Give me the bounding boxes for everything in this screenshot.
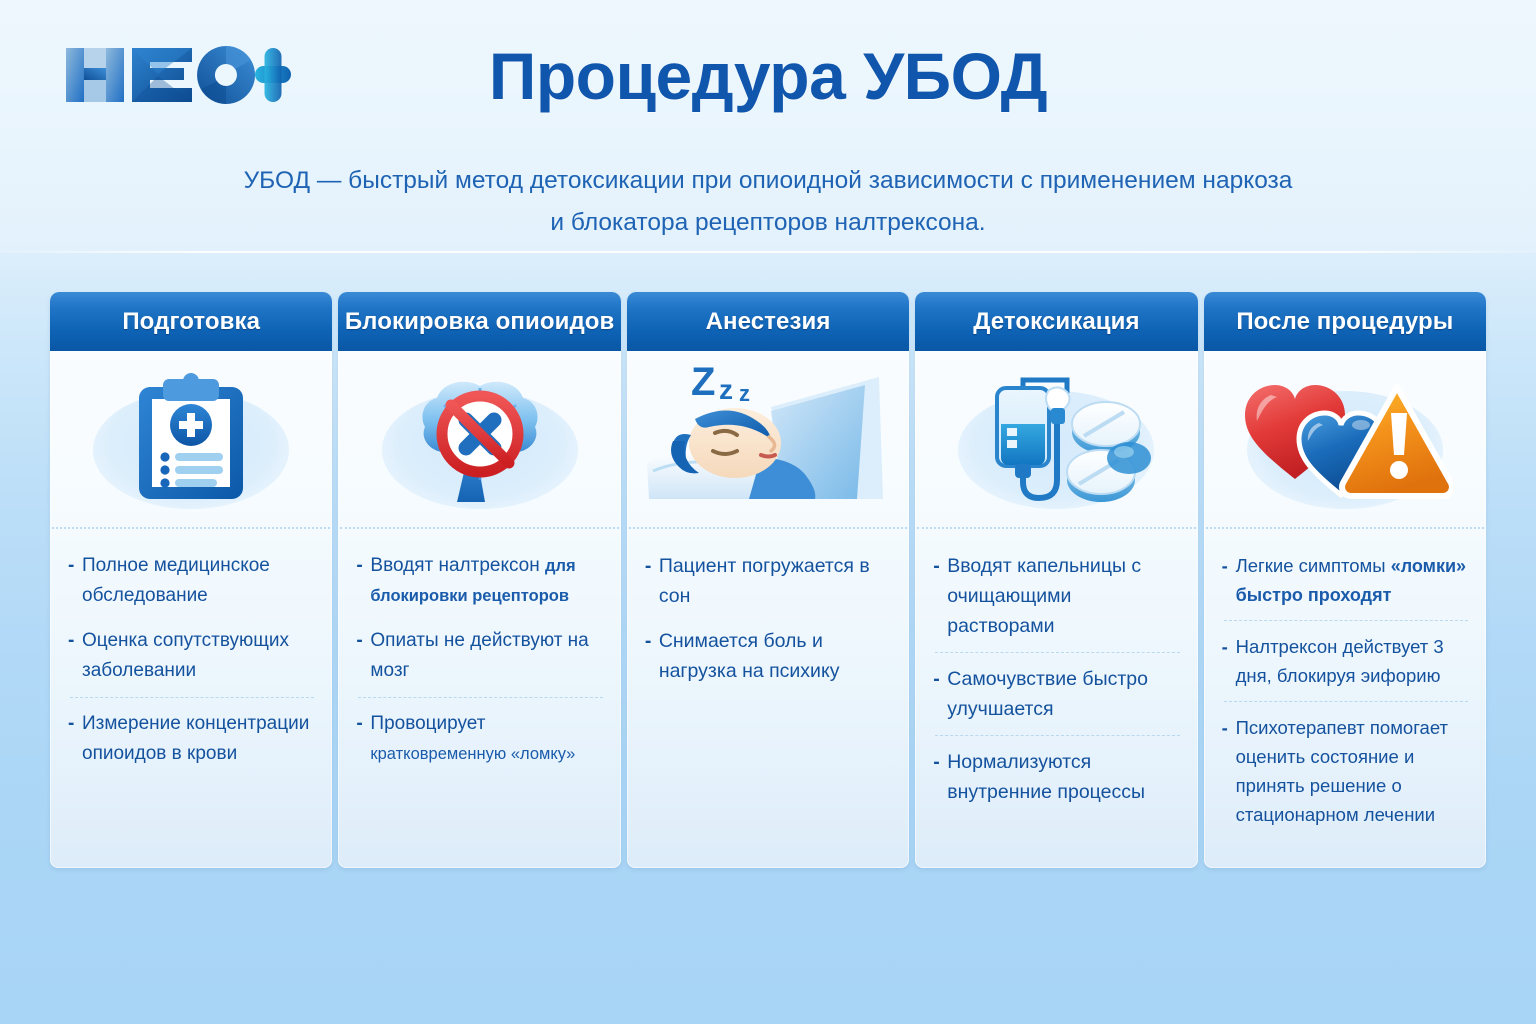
list-item: - Нормализуются внутренние процессы <box>933 747 1181 807</box>
subtitle-line-2: и блокатора рецепторов налтрексона. <box>168 202 1368 244</box>
step-card-preparation[interactable]: Подготовка <box>50 292 332 868</box>
list-item: - Психотерапевт помогает оценить состоян… <box>1222 713 1470 829</box>
step-card-title-preparation: Подготовка <box>50 292 332 351</box>
step-card-body-preparation: - Полное медицинское обследование - Оцен… <box>50 529 332 868</box>
list-item-text: Измерение концентрации опиоидов в крови <box>82 709 316 769</box>
bullet-group: - Самочувствие быстро улучшается <box>933 664 1181 724</box>
list-item-text: Вводят капельницы с очищающими растворам… <box>947 551 1181 641</box>
page-title: Процедура УБОД <box>0 38 1536 114</box>
list-item-text: Опиаты не действуют на мозг <box>370 626 604 686</box>
step-card-body-after-procedure: - Легкие симптомы «ломки» быстро проходя… <box>1204 529 1486 868</box>
dash-marker: - <box>356 626 370 656</box>
dash-marker: - <box>645 626 659 656</box>
page-subtitle: УБОД — быстрый метод детоксикации при оп… <box>168 160 1368 244</box>
step-card-after-procedure[interactable]: После процедуры <box>1204 292 1486 868</box>
list-item-text: Нормализуются внутренние процессы <box>947 747 1181 807</box>
bullet-group: - Нормализуются внутренние процессы <box>933 747 1181 807</box>
svg-text:Z: Z <box>691 360 715 404</box>
step-card-body-anesthesia: - Пациент погружается в сон - Снимается … <box>627 529 909 868</box>
dash-marker: - <box>933 551 947 581</box>
list-item-text: Снимается боль и нагрузка на психику <box>659 626 893 686</box>
svg-text:z: z <box>739 381 750 406</box>
list-item: - Снимается боль и нагрузка на психику <box>645 626 893 686</box>
procedure-steps-row: Подготовка <box>50 292 1486 868</box>
list-item: - Налтрексон действует 3 дня, блокируя э… <box>1222 632 1470 690</box>
subtitle-line-1: УБОД — быстрый метод детоксикации при оп… <box>244 167 1293 194</box>
dash-marker: - <box>1222 713 1236 742</box>
bullet-group: - Налтрексон действует 3 дня, блокируя э… <box>1222 632 1470 690</box>
step-card-title-after-procedure: После процедуры <box>1204 292 1486 351</box>
step-card-anesthesia[interactable]: Анестезия <box>627 292 909 868</box>
dash-marker: - <box>933 664 947 694</box>
brain-blocked-icon <box>405 372 555 506</box>
iv-drip-pills-icon <box>961 366 1151 512</box>
svg-text:z: z <box>719 374 733 405</box>
list-item-text: Пациент погружается в сон <box>659 551 893 611</box>
list-item-text: Провоцирует <box>370 713 485 734</box>
dash-marker: - <box>68 551 82 581</box>
dash-marker: - <box>645 551 659 581</box>
step-card-body-opioid-blocking: - Вводят налтрексон для блокировки рецеп… <box>338 529 620 868</box>
list-item-text: Легкие симптомы <box>1236 555 1386 576</box>
dash-marker: - <box>356 551 370 581</box>
step-icon-area-after-procedure <box>1204 351 1486 527</box>
dash-marker: - <box>68 626 82 656</box>
sleeping-patient-icon: Z z z <box>643 359 893 519</box>
dash-marker: - <box>1222 551 1236 580</box>
list-item: - Полное медицинское обследование <box>68 551 316 611</box>
list-item: - Измерение концентрации опиоидов в кров… <box>68 709 316 769</box>
list-separator <box>1224 620 1468 621</box>
bullet-group: - Вводят капельницы с очищающими раствор… <box>933 551 1181 641</box>
list-item-text: Вводят налтрексон <box>370 555 539 576</box>
list-item-text: Полное медицинское обследование <box>82 551 316 611</box>
bullet-group: - Вводят налтрексон для блокировки рецеп… <box>356 551 604 686</box>
bullet-group: - Психотерапевт помогает оценить состоян… <box>1222 713 1470 829</box>
list-item: - Легкие симптомы «ломки» быстро проходя… <box>1222 551 1470 609</box>
step-icon-area-anesthesia: Z z z <box>627 351 909 527</box>
hearts-warning-icon <box>1237 369 1453 509</box>
step-card-title-opioid-blocking: Блокировка опиоидов <box>338 292 620 351</box>
list-separator <box>1224 701 1468 702</box>
step-card-title-detoxification: Детоксикация <box>915 292 1197 351</box>
list-separator <box>358 697 602 698</box>
bullet-group: - Провоцирует кратковременную «ломку» <box>356 709 604 769</box>
step-icon-area-preparation <box>50 351 332 527</box>
dash-marker: - <box>1222 632 1236 661</box>
list-separator <box>935 652 1179 653</box>
list-item: - Вводят налтрексон для блокировки рецеп… <box>356 551 604 611</box>
list-item: - Опиаты не действуют на мозг <box>356 626 604 686</box>
step-card-detoxification[interactable]: Детоксикация <box>915 292 1197 868</box>
list-item: - Провоцирует кратковременную «ломку» <box>356 709 604 769</box>
step-card-body-detoxification: - Вводят капельницы с очищающими раствор… <box>915 529 1197 868</box>
bullet-group: - Пациент погружается в сон - Снимается … <box>645 551 893 686</box>
dash-marker: - <box>933 747 947 777</box>
step-card-opioid-blocking[interactable]: Блокировка опиоидов <box>338 292 620 868</box>
dash-marker: - <box>356 709 370 739</box>
bullet-group: - Легкие симптомы «ломки» быстро проходя… <box>1222 551 1470 609</box>
list-item: - Оценка сопутствующих заболевании <box>68 626 316 686</box>
list-item: - Вводят капельницы с очищающими раствор… <box>933 551 1181 641</box>
list-item: - Пациент погружается в сон <box>645 551 893 611</box>
bullet-group: - Измерение концентрации опиоидов в кров… <box>68 709 316 769</box>
dash-marker: - <box>68 709 82 739</box>
list-item-continuation: кратковременную «ломку» <box>370 745 575 763</box>
list-separator <box>70 697 314 698</box>
list-item-text: Налтрексон действует 3 дня, блокируя эиф… <box>1236 632 1470 690</box>
step-icon-area-opioid-blocking <box>338 351 620 527</box>
bullet-group: - Полное медицинское обследование - Оцен… <box>68 551 316 686</box>
step-card-title-anesthesia: Анестезия <box>627 292 909 351</box>
clipboard-medical-icon <box>129 373 253 505</box>
list-item: - Самочувствие быстро улучшается <box>933 664 1181 724</box>
list-item-text: Самочувствие быстро улучшается <box>947 664 1181 724</box>
list-item-text: Психотерапевт помогает оценить состояние… <box>1236 713 1470 829</box>
list-item-text: Оценка сопутствующих заболевании <box>82 626 316 686</box>
list-separator <box>935 735 1179 736</box>
step-icon-area-detoxification <box>915 351 1197 527</box>
